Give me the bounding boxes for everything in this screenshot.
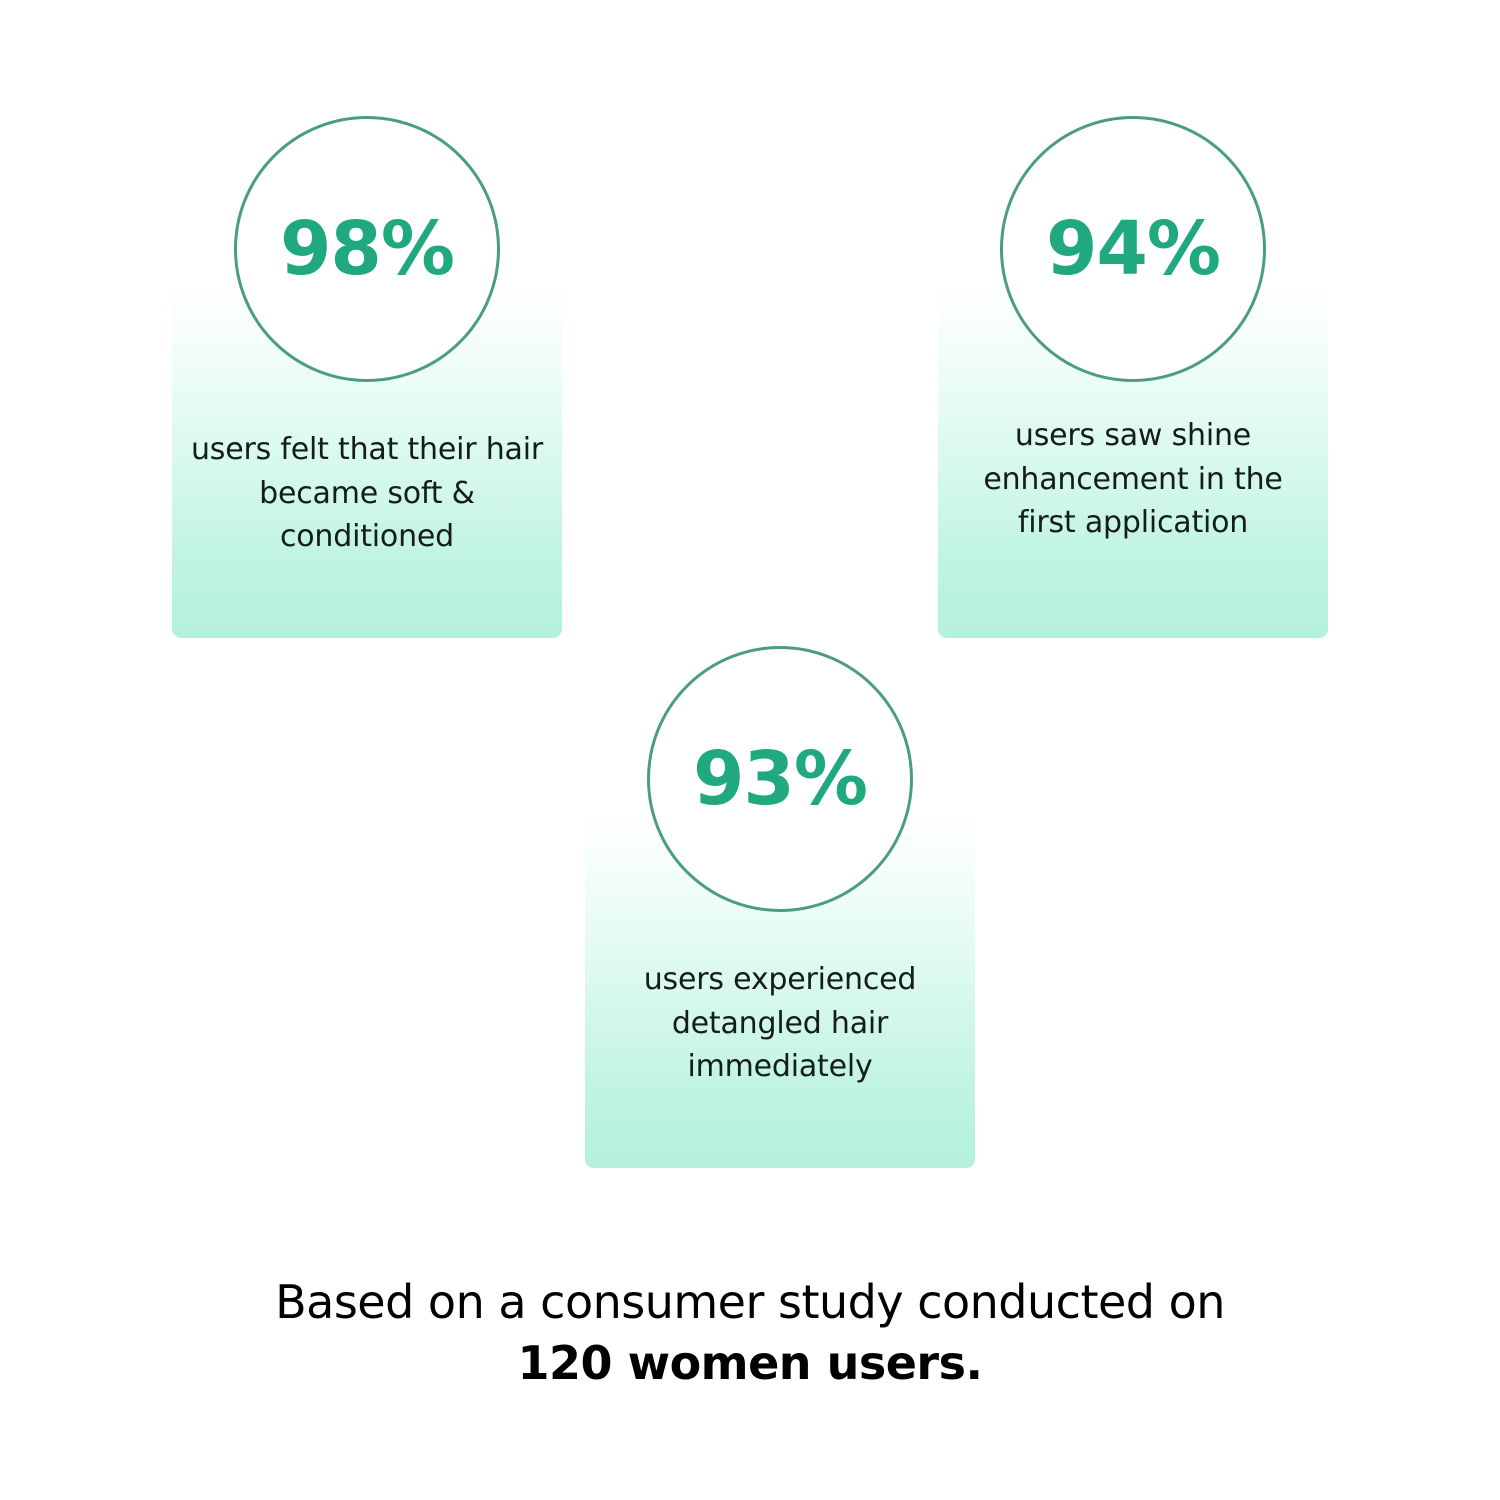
stat-caption: users experienced detangled hair immedia… bbox=[599, 958, 961, 1089]
percentage-value: 93% bbox=[693, 742, 867, 816]
percentage-badge-circle: 98% bbox=[234, 116, 500, 382]
percentage-badge-circle: 93% bbox=[647, 646, 913, 912]
stat-caption: users saw shine enhancement in the first… bbox=[952, 414, 1314, 545]
stat-card-soft-conditioned: 98% users felt that their hair became so… bbox=[172, 250, 562, 638]
percentage-value: 98% bbox=[280, 212, 454, 286]
percentage-badge-circle: 94% bbox=[1000, 116, 1266, 382]
stat-card-shine-enhancement: 94% users saw shine enhancement in the f… bbox=[938, 250, 1328, 638]
infographic-canvas: 98% users felt that their hair became so… bbox=[0, 0, 1500, 1500]
percentage-value: 94% bbox=[1046, 212, 1220, 286]
study-disclaimer: Based on a consumer study conducted on 1… bbox=[0, 1272, 1500, 1393]
stat-card-detangled-hair: 93% users experienced detangled hair imm… bbox=[585, 780, 975, 1168]
disclaimer-line-1: Based on a consumer study conducted on bbox=[0, 1272, 1500, 1333]
stat-caption: users felt that their hair became soft &… bbox=[186, 428, 548, 559]
disclaimer-line-2: 120 women users. bbox=[0, 1333, 1500, 1394]
